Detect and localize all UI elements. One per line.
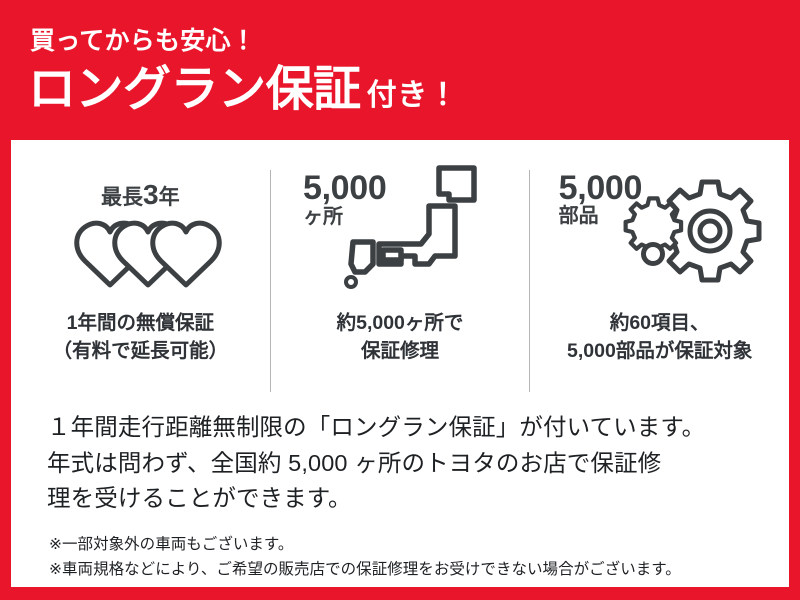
covered-parts-badge: 5,000 部品 — [559, 172, 642, 226]
warranty-term-badge: 最長3年 — [101, 182, 180, 209]
service-locations-badge-number: 5,000 — [303, 172, 386, 204]
feature-columns: 最長3年 1年間の無償保証 （有料で延長可能） — [11, 154, 789, 402]
covered-parts-caption-line1: 約60項目、 — [567, 310, 752, 338]
covered-parts-caption-line2: 5,000部品が保証対象 — [567, 338, 752, 366]
warranty-term-icon-block: 最長3年 — [25, 154, 255, 306]
footnotes: ※一部対象外の車両もございます。 ※車両規格などにより、ご希望の販売店での保証修… — [49, 532, 779, 582]
warranty-term-badge-prefix: 最長 — [101, 186, 143, 209]
gears-icon — [623, 176, 763, 296]
feature-service-locations: 5,000 ヶ所 約5,000ヶ所で 保証修理 — [271, 154, 530, 402]
covered-parts-icon-block: 5,000 部品 — [545, 154, 775, 306]
covered-parts-badge-unit: 部品 — [559, 207, 642, 226]
warranty-term-caption: 1年間の無償保証 （有料で延長可能） — [53, 310, 229, 365]
warranty-term-caption-line2: （有料で延長可能） — [53, 338, 229, 366]
footnote-2: ※車両規格などにより、ご希望の販売店での保証修理をお受けできない場合がございます… — [49, 557, 779, 582]
warranty-term-badge-number: 3 — [143, 179, 159, 210]
feature-covered-parts: 5,000 部品 約60項目、 5,000部品が保証対象 — [530, 154, 789, 402]
content-card: 最長3年 1年間の無償保証 （有料で延長可能） — [11, 140, 789, 587]
covered-parts-caption: 約60項目、 5,000部品が保証対象 — [567, 310, 752, 365]
service-locations-badge: 5,000 ヶ所 — [303, 172, 386, 227]
body-copy-line1: １年間走行距離無制限の「ロングラン保証」が付いています。 — [47, 410, 767, 446]
service-locations-caption-line1: 約5,000ヶ所で — [337, 310, 464, 338]
feature-warranty-term: 最長3年 1年間の無償保証 （有料で延長可能） — [11, 154, 270, 402]
long-run-warranty-banner: 買ってからも安心！ ロングラン保証付き！ 最長3年 — [0, 0, 800, 600]
service-locations-badge-unit: ヶ所 — [303, 208, 386, 227]
service-locations-icon-block: 5,000 ヶ所 — [285, 154, 515, 306]
body-copy-line2: 年式は問わず、全国約 5,000 ヶ所のトヨタのお店で保証修 — [47, 446, 767, 482]
warranty-term-badge-suffix: 年 — [159, 186, 180, 209]
service-locations-caption: 約5,000ヶ所で 保証修理 — [337, 310, 464, 365]
three-hearts-icon — [54, 216, 226, 290]
header-title: ロングラン保証付き！ — [28, 66, 458, 114]
header-title-main: ロングラン保証 — [28, 63, 361, 116]
banner-header: 買ってからも安心！ ロングラン保証付き！ — [0, 0, 800, 140]
service-locations-caption-line2: 保証修理 — [337, 338, 464, 366]
body-copy: １年間走行距離無制限の「ロングラン保証」が付いています。 年式は問わず、全国約 … — [47, 410, 767, 517]
covered-parts-badge-number: 5,000 — [559, 172, 642, 204]
footnote-1: ※一部対象外の車両もございます。 — [49, 532, 779, 557]
body-copy-line3: 理を受けることができます。 — [47, 481, 767, 517]
header-kicker-text: 買ってからも安心！ — [30, 29, 256, 54]
warranty-term-caption-line1: 1年間の無償保証 — [53, 310, 229, 338]
header-title-suffix: 付き！ — [367, 79, 459, 112]
